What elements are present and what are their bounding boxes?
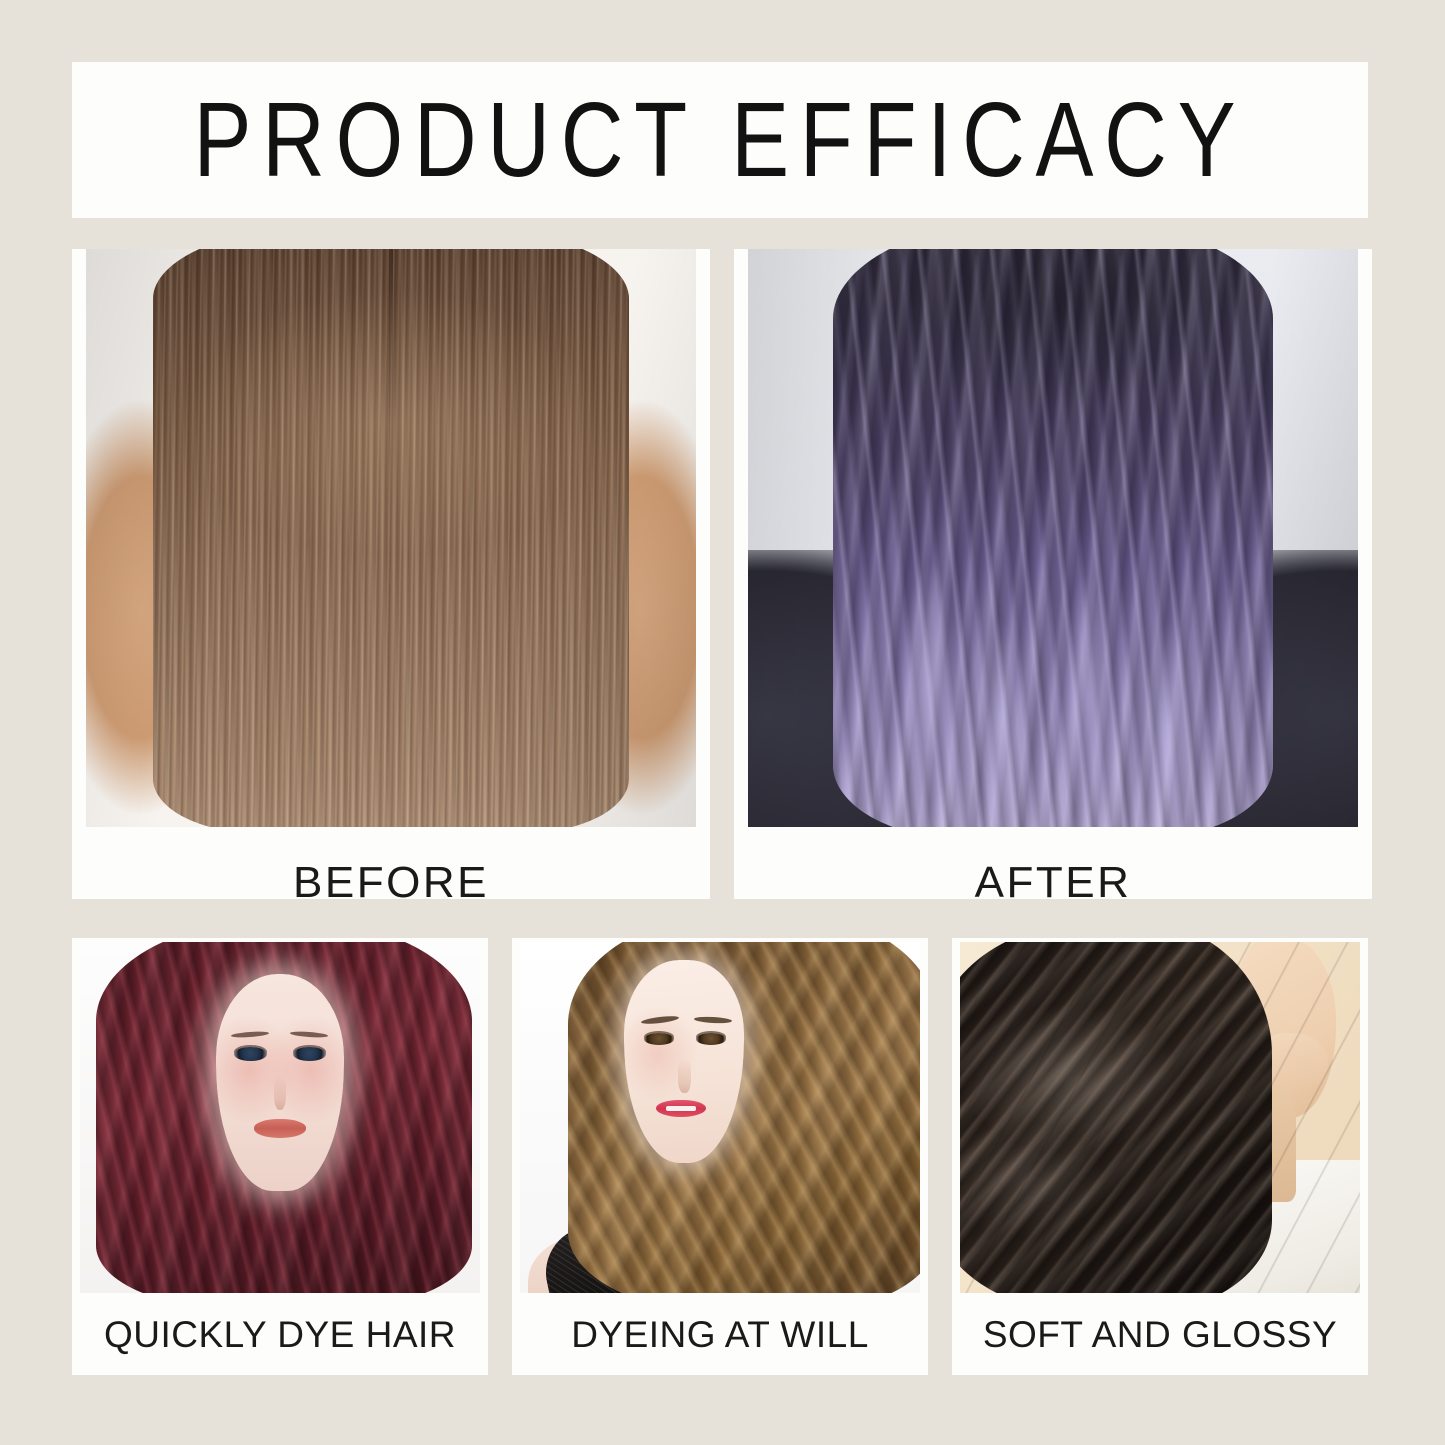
before-photo [86,249,696,827]
nose [678,1058,691,1093]
hair-wisps [960,942,1360,1293]
glossy-black-hair-photo [960,942,1360,1293]
nose [274,1075,287,1110]
benefit-label-quickly-dye-hair: QUICKLY DYE HAIR [72,1316,488,1353]
product-efficacy-infographic: PRODUCT EFFICACY BEFORE AFTER [0,0,1445,1445]
before-label: BEFORE [72,861,710,899]
after-label: AFTER [734,861,1372,899]
burgundy-hair-photo [80,942,480,1293]
benefit-label-soft-and-glossy: SOFT AND GLOSSY [952,1316,1368,1353]
benefit-card-quickly-dye-hair: QUICKLY DYE HAIR [72,938,488,1375]
benefit-card-dyeing-at-will: DYEING AT WILL [512,938,928,1375]
benefit-card-soft-and-glossy: SOFT AND GLOSSY [952,938,1368,1375]
after-photo [748,249,1358,827]
before-card: BEFORE [72,249,710,899]
after-card: AFTER [734,249,1372,899]
benefit-label-dyeing-at-will: DYEING AT WILL [512,1316,928,1353]
caramel-hair-photo [520,942,920,1293]
teeth [666,1106,696,1111]
hair-waves [568,942,920,1293]
lighting-layer [748,249,1358,827]
lighting-layer [86,249,696,827]
page-title: PRODUCT EFFICACY [194,87,1247,193]
lips [254,1119,306,1137]
page-title-card: PRODUCT EFFICACY [72,62,1368,218]
